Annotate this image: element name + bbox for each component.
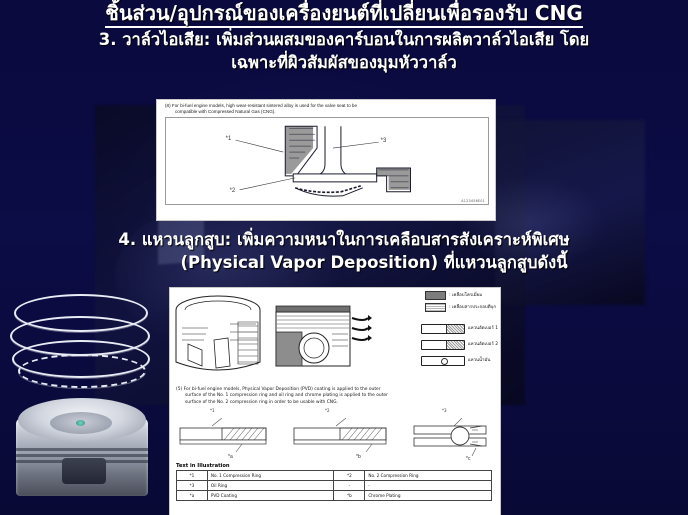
svg-text:*1: *1: [226, 137, 232, 143]
section3-heading: 3. วาล์วไอเสีย: เพิ่มส่วนผสมของคาร์บอนใน…: [6, 28, 682, 74]
ring-cross-section-figures: *a *b *c: [176, 418, 494, 462]
ring-cross-sections-drawing: *a *b *c: [176, 418, 492, 462]
slide: H SY DR ชิ้นส่วน/อุปกรณ์ของเครื่องยนต์ที…: [0, 0, 688, 515]
pvd-caption-number: (5): [176, 387, 182, 392]
svg-text:*a: *a: [228, 454, 233, 460]
text-in-illustration-title: Text in Illustration: [170, 462, 500, 470]
text-in-illustration-table: *1 No. 1 Compression Ring *2 No. 2 Compr…: [176, 470, 492, 501]
valve-seat-caption-line1: For bi-fuel engine models, high wear-res…: [172, 103, 357, 108]
ring-label-no2: แหวนอัดเบอร์ 2: [468, 341, 498, 349]
legend-label-compound: : เคลือบสารประกอบดีบุก: [449, 303, 496, 312]
section4-heading-line2: (Physical Vapor Deposition) ที่แหวนลูกสู…: [6, 251, 682, 274]
callout-3: *3: [442, 408, 447, 413]
piston-ring-illustration-panel: : เคลือบโครเมี่ยม : เคลือบสารประกอบดีบุก…: [170, 288, 500, 515]
table-value: PVD Coating: [207, 491, 334, 501]
ring-callout-item: แหวนน้ำมัน: [421, 356, 498, 366]
svg-text:*b: *b: [356, 454, 361, 460]
legend-item: : เคลือบสารประกอบดีบุก: [425, 303, 496, 312]
table-value: Chrome Plating: [365, 491, 492, 501]
valve-seat-caption: (8) For bi-fuel engine models, high wear…: [157, 100, 495, 116]
table-key: *2: [334, 471, 365, 481]
table-value: -: [365, 481, 492, 491]
valve-seat-figure-code: A123456E01: [461, 199, 485, 203]
ring-callout-list: แหวนอัดเบอร์ 1 แหวนอัดเบอร์ 2 แหวนน้ำมัน: [421, 324, 498, 372]
pvd-caption: (5) For bi-fuel engine models, Physical …: [170, 386, 500, 406]
table-row: *3 Oil Ring - -: [177, 481, 492, 491]
callout-1: *1: [210, 408, 215, 413]
piston-rings-photo: [8, 292, 156, 402]
ring-no2-icon: [421, 340, 465, 350]
section4-heading-line1: 4. แหวนลูกสูบ: เพิ่มความหนาในการเคลือบสา…: [6, 228, 682, 251]
table-key: -: [334, 481, 365, 491]
legend-swatch-chrome-icon: [425, 291, 446, 300]
table-row: *1 No. 1 Compression Ring *2 No. 2 Compr…: [177, 471, 492, 481]
ring-no1-icon: [421, 324, 465, 334]
page-title-text: ชิ้นส่วน/อุปกรณ์ของเครื่องยนต์ที่เปลี่ยน…: [105, 1, 582, 28]
table-key: *3: [177, 481, 208, 491]
ring-label-no1: แหวนอัดเบอร์ 1: [468, 325, 498, 333]
table-row: *a PVD Coating *b Chrome Plating: [177, 491, 492, 501]
ring-callout-item: แหวนอัดเบอร์ 1: [421, 324, 498, 334]
piston-cutaway-drawing: [172, 288, 372, 386]
ring-label-oil: แหวนน้ำมัน: [468, 357, 491, 365]
section3-heading-line1: 3. วาล์วไอเสีย: เพิ่มส่วนผสมของคาร์บอนใน…: [99, 30, 589, 49]
table-key: *1: [177, 471, 208, 481]
valve-seat-caption-line2: compatible with Compressed Natural Gas (…: [165, 109, 489, 115]
legend-swatch-compound-icon: [425, 303, 446, 312]
svg-text:*3: *3: [381, 139, 387, 145]
piston-photo: [16, 392, 148, 510]
legend-label-chrome: : เคลือบโครเมี่ยม: [449, 291, 482, 300]
legend-item: : เคลือบโครเมี่ยม: [425, 291, 496, 300]
ring-figure-top-callouts: *1 *2 *3: [170, 406, 500, 418]
svg-text:*2: *2: [230, 188, 236, 194]
pvd-caption-line1: For bi-fuel engine models, Physical Vapo…: [184, 387, 381, 392]
piston-ring-top-figure: : เคลือบโครเมี่ยม : เคลือบสารประกอบดีบุก…: [170, 288, 500, 386]
valve-seat-caption-number: (8): [165, 103, 171, 108]
ring-callout-item: แหวนอัดเบอร์ 2: [421, 340, 498, 350]
coating-legend: : เคลือบโครเมี่ยม : เคลือบสารประกอบดีบุก: [425, 291, 496, 315]
page-title: ชิ้นส่วน/อุปกรณ์ของเครื่องยนต์ที่เปลี่ยน…: [0, 1, 688, 25]
valve-seat-illustration-panel: (8) For bi-fuel engine models, high wear…: [157, 100, 495, 220]
table-value: No. 2 Compression Ring: [365, 471, 492, 481]
table-key: *a: [177, 491, 208, 501]
callout-2: *2: [325, 408, 330, 413]
valve-seat-drawing: *1 *2 *3: [166, 118, 488, 204]
backdrop-machinery-photo-right: [495, 120, 645, 305]
table-key: *b: [334, 491, 365, 501]
table-value: No. 1 Compression Ring: [207, 471, 334, 481]
table-value: Oil Ring: [207, 481, 334, 491]
section3-heading-line2: เฉพาะที่ผิวสัมผัสของมุมหัววาล์ว: [231, 53, 456, 72]
svg-text:*c: *c: [466, 456, 471, 462]
valve-seat-figure: *1 *2 *3 A123456E01: [165, 117, 489, 205]
section4-heading: 4. แหวนลูกสูบ: เพิ่มความหนาในการเคลือบสา…: [6, 228, 682, 274]
ring-oil-icon: [421, 356, 465, 366]
